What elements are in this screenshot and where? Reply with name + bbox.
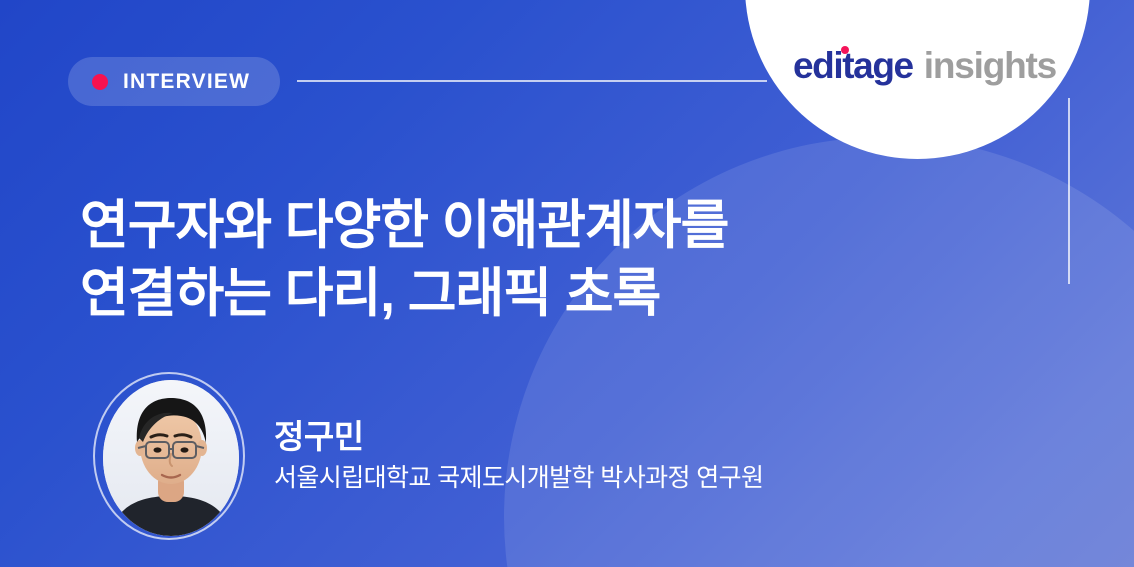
- author-title: 서울시립대학교 국제도시개발학 박사과정 연구원: [274, 462, 763, 495]
- editage-insights-logo[interactable]: editage insights: [793, 47, 1056, 84]
- right-connector-line: [1068, 98, 1070, 284]
- author-text: 정구민 서울시립대학교 국제도시개발학 박사과정 연구원: [274, 418, 763, 494]
- badge-connector-line: [297, 80, 767, 82]
- interview-banner: editage insights INTERVIEW 연구자와 다양한 이해관계…: [0, 0, 1134, 567]
- page-title: 연구자와 다양한 이해관계자를 연결하는 다리, 그래픽 초록: [80, 192, 728, 329]
- logo-i-dot-icon: [841, 46, 849, 54]
- logo-brand-text: editage: [793, 47, 913, 84]
- interview-category-badge[interactable]: INTERVIEW: [68, 57, 280, 106]
- author-block: 정구민 서울시립대학교 국제도시개발학 박사과정 연구원: [93, 372, 763, 540]
- logo-product-text: insights: [924, 47, 1056, 84]
- avatar: [103, 380, 239, 536]
- record-dot-icon: [92, 74, 108, 90]
- headline-line-1: 연구자와 다양한 이해관계자를: [80, 192, 728, 260]
- badge-label: INTERVIEW: [123, 70, 250, 94]
- avatar-ring: [93, 372, 245, 540]
- author-name: 정구민: [274, 418, 763, 457]
- headline-line-2: 연결하는 다리, 그래픽 초록: [80, 260, 728, 328]
